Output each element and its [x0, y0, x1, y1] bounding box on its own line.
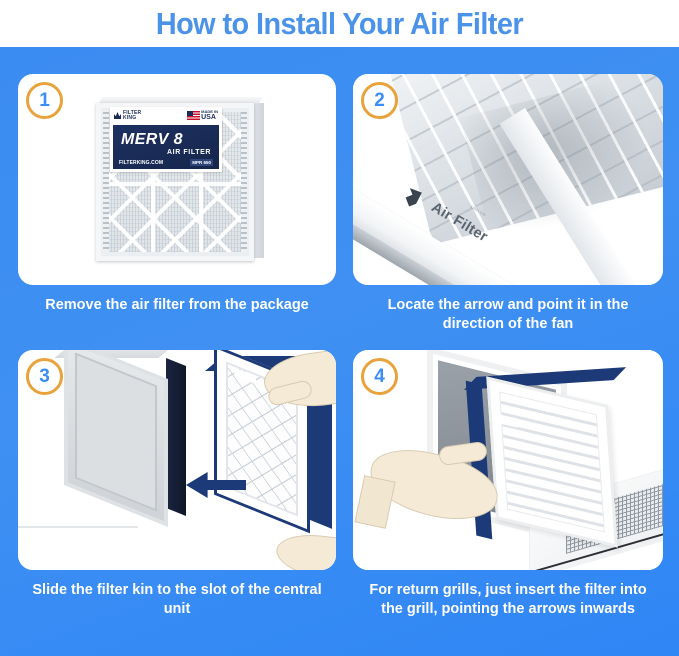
- page-title: How to Install Your Air Filter: [156, 8, 523, 39]
- step-2: 2 Air Filter AIRFLOW Locate the arrow an…: [353, 74, 663, 334]
- central-unit-slot: [64, 350, 168, 527]
- step-4-card: 4: [353, 350, 663, 570]
- air-filter-product: FILTER KING MADE IN USA: [96, 97, 266, 264]
- slot-dark-opening: [166, 358, 186, 516]
- step-2-card: 2 Air Filter AIRFLOW: [353, 74, 663, 285]
- step-4-caption: For return grills, just insert the filte…: [353, 581, 663, 619]
- usa-flag-icon: [187, 111, 200, 120]
- step-4-badge: 4: [361, 358, 398, 395]
- sleeve-cuff: [354, 475, 395, 529]
- step-1-caption: Remove the air filter from the package: [18, 296, 336, 315]
- crown-icon: [114, 112, 121, 119]
- usa-text: USA: [201, 114, 218, 121]
- brand-name: FILTER KING: [123, 111, 141, 121]
- step-1: 1: [18, 74, 336, 315]
- step-2-badge: 2: [361, 82, 398, 119]
- step-4-illustration: [353, 350, 663, 570]
- filter-king-logo: FILTER KING: [114, 111, 141, 121]
- step-4: 4: [353, 350, 663, 619]
- filter-label: FILTER KING MADE IN USA: [110, 107, 222, 172]
- header: How to Install Your Air Filter: [0, 0, 679, 47]
- step-3: 3: [18, 350, 336, 619]
- website-text: FILTERKING.COM: [119, 161, 163, 166]
- step-3-illustration: [18, 350, 336, 570]
- step-3-caption: Slide the filter kin to the slot of the …: [18, 581, 336, 619]
- filter-pleat-edge-right: [241, 112, 247, 252]
- grill-louvers: [499, 391, 605, 532]
- slot-inner-panel: [75, 352, 157, 511]
- step-1-illustration: FILTER KING MADE IN USA: [18, 74, 336, 285]
- step-2-illustration: Air Filter AIRFLOW: [353, 74, 663, 285]
- steps-grid: 1: [0, 47, 679, 656]
- merv-rating: MERV 8: [121, 132, 183, 148]
- mpr-badge: MPR 650: [190, 159, 213, 166]
- made-in-usa-badge: MADE IN USA: [187, 110, 218, 122]
- air-filter-text: AIR FILTER: [167, 149, 211, 156]
- filter-pleat-edge-left: [103, 112, 109, 252]
- floor-line: [18, 526, 138, 528]
- step-3-card: 3: [18, 350, 336, 570]
- step-2-caption: Locate the arrow and point it in the dir…: [353, 296, 663, 334]
- step-1-card: 1: [18, 74, 336, 285]
- filter-label-body: MERV 8 AIR FILTER FILTERKING.COM MPR 650: [113, 125, 219, 169]
- hand-lower: [274, 531, 336, 570]
- step-1-badge: 1: [26, 82, 63, 119]
- infographic-page: How to Install Your Air Filter 1: [0, 0, 679, 656]
- step-3-badge: 3: [26, 358, 63, 395]
- filter-label-header: FILTER KING MADE IN USA: [110, 107, 222, 124]
